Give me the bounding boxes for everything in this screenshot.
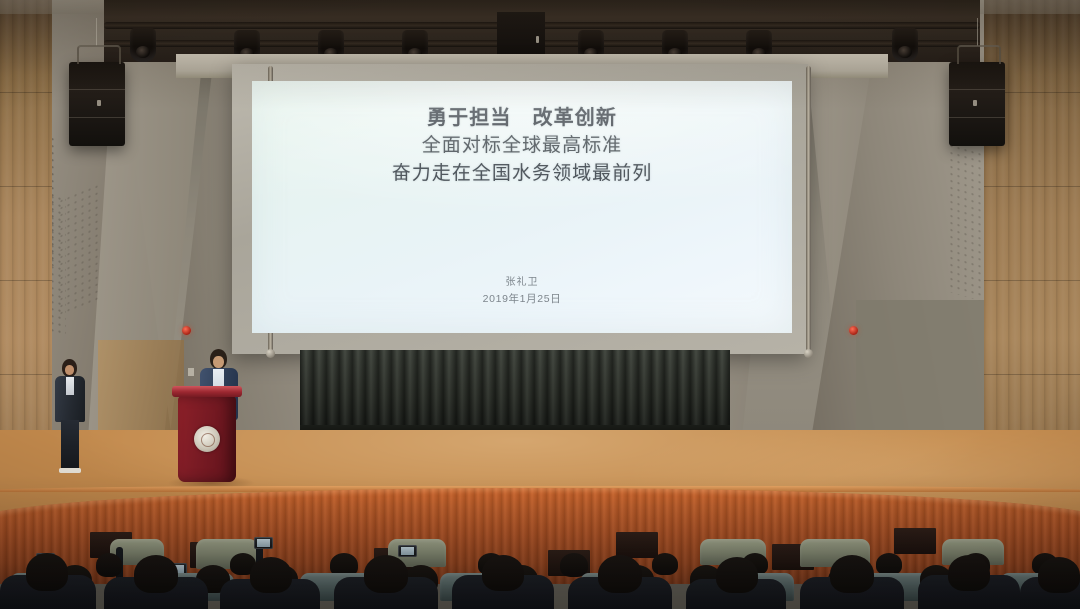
- attendant-shirt: [66, 377, 74, 395]
- slide-title-line-2: 全面对标全球最高标准: [252, 132, 792, 160]
- slide-title-block: 勇于担当 改革创新 全面对标全球最高标准 奋力走在全国水务领域最前列: [252, 103, 792, 188]
- attendant-face: [65, 365, 74, 375]
- audience-phone: [254, 537, 273, 549]
- screen-support-rod-right: [806, 66, 811, 352]
- wood-pilaster-left: [0, 0, 52, 470]
- slide-title-line-3: 奋力走在全国水务领域最前列: [252, 160, 792, 188]
- slide-footer: 张礼卫 2019年1月25日: [252, 274, 792, 309]
- speaker-podium: [176, 386, 238, 482]
- line-array-speaker-right: [949, 62, 1005, 146]
- alarm-light-icon: [849, 326, 858, 335]
- alarm-light-icon: [182, 326, 191, 335]
- perforated-acoustic-panel: [58, 181, 102, 319]
- projected-slide: 勇于担当 改革创新 全面对标全球最高标准 奋力走在全国水务领域最前列 张礼卫 2…: [252, 81, 792, 333]
- podium-body: [178, 396, 236, 482]
- stage-attendant-figure: [52, 359, 88, 473]
- spotlight-icon: [130, 28, 156, 62]
- audience-head: [876, 553, 902, 575]
- audience-head: [250, 557, 292, 593]
- slide-title-line-1: 勇于担当 改革创新: [252, 103, 792, 132]
- audience-head: [716, 557, 758, 593]
- audience-head: [598, 555, 642, 593]
- wall-switch[interactable]: [188, 368, 194, 376]
- attendant-legs: [61, 420, 79, 470]
- podium-emblem-icon: [194, 426, 220, 452]
- attendant-shoes: [59, 468, 81, 473]
- stage-curtain: [300, 350, 730, 435]
- slide-date: 2019年1月25日: [252, 291, 792, 309]
- audience-head: [948, 555, 990, 591]
- audience-head: [96, 553, 122, 577]
- audience-head: [1038, 557, 1080, 593]
- auditorium-presentation-photo: 勇于担当 改革创新 全面对标全球最高标准 奋力走在全国水务领域最前列 张礼卫 2…: [0, 0, 1080, 609]
- podium-lectern-top: [172, 386, 242, 397]
- audience-head: [830, 555, 874, 593]
- presenter-face: [213, 356, 224, 368]
- audience-head: [134, 555, 178, 593]
- audience-head: [26, 553, 68, 591]
- audience-head: [652, 553, 678, 575]
- audience-head: [482, 555, 524, 591]
- spotlight-icon: [892, 28, 918, 62]
- line-array-speaker-left: [69, 62, 125, 146]
- audience-phone: [398, 545, 417, 557]
- audience-head: [364, 555, 408, 593]
- slide-author: 张礼卫: [252, 274, 792, 291]
- audience-seating-area: [0, 536, 1080, 609]
